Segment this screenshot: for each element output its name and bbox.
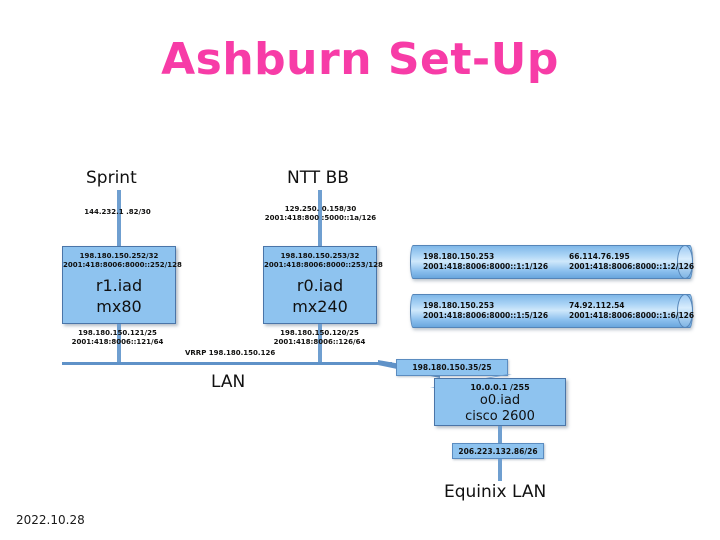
switch-downlink-badge[interactable]: 206.223.132.86/26 bbox=[452, 443, 544, 459]
router-r1-name: r1.iad bbox=[63, 276, 175, 295]
router-r0-loopback-v4: 198.180.150.253/32 bbox=[264, 252, 376, 261]
link-ip-ntt-v4: 129.250. 0.158/30 bbox=[248, 205, 393, 214]
peer1-far-v6: 2001:418:8006:8000::1:2/126 bbox=[569, 262, 694, 272]
lan-label: LAN bbox=[211, 372, 245, 392]
peer1-near-v6: 2001:418:8006:8000::1:1/126 bbox=[423, 262, 548, 272]
link-ip-sprint: 144.232.1 .82/30 bbox=[45, 208, 190, 217]
peer1-far-v4: 66.114.76.195 bbox=[569, 252, 694, 262]
router-r1-model: mx80 bbox=[63, 297, 175, 316]
link-sprint-to-r1 bbox=[117, 190, 121, 248]
switch-node-o0[interactable]: 10.0.0.1 /255 o0.iad cisco 2600 bbox=[434, 378, 566, 426]
upstream-label-ntt: NTT BB bbox=[287, 168, 349, 188]
peer2-near-v6: 2001:418:8006:8000::1:5/126 bbox=[423, 311, 548, 321]
slide-canvas: Ashburn Set-Up Sprint NTT BB 144.232.1 .… bbox=[0, 0, 720, 540]
router-r0-lan-v4: 198.180.150.120/25 bbox=[247, 329, 392, 338]
link-ip-ntt-v6: 2001:418:800 :5000::1a/126 bbox=[248, 214, 393, 223]
link-downlink-badge-to-equinix bbox=[498, 459, 502, 481]
peer-link-cylinder-1[interactable]: 198.180.150.253 2001:418:8006:8000::1:1/… bbox=[410, 245, 693, 279]
router-node-r0[interactable]: 198.180.150.253/32 2001:418:8006:8000::2… bbox=[263, 246, 377, 324]
switch-mgmt-ip: 10.0.0.1 /255 bbox=[435, 383, 565, 392]
router-node-r1[interactable]: 198.180.150.252/32 2001:418:8006:8000::2… bbox=[62, 246, 176, 324]
upstream-label-sprint: Sprint bbox=[86, 168, 137, 188]
router-r1-lan-v6: 2001:418:8006::121/64 bbox=[45, 338, 190, 347]
router-r1-loopback-v4: 198.180.150.252/32 bbox=[63, 252, 175, 261]
peer1-near-v4: 198.180.150.253 bbox=[423, 252, 548, 262]
downstream-label-equinix: Equinix LAN bbox=[444, 482, 546, 502]
peer-link-cylinder-2[interactable]: 198.180.150.253 2001:418:8006:8000::1:5/… bbox=[410, 294, 693, 328]
router-r0-model: mx240 bbox=[264, 297, 376, 316]
peer2-near-v4: 198.180.150.253 bbox=[423, 301, 548, 311]
router-r1-lan-v4: 198.180.150.121/25 bbox=[45, 329, 190, 338]
router-r1-loopback-v6: 2001:418:8006:8000::252/128 bbox=[63, 261, 175, 270]
router-r0-lan-v6: 2001:418:8006::126/64 bbox=[247, 338, 392, 347]
lan-bus-line bbox=[62, 362, 392, 365]
link-switch-to-downlink-badge bbox=[498, 426, 502, 444]
router-r0-loopback-v6: 2001:418:8006:8000::253/128 bbox=[264, 261, 376, 270]
router-r0-name: r0.iad bbox=[264, 276, 376, 295]
peer2-far-v6: 2001:418:8006:8000::1:6/126 bbox=[569, 311, 694, 321]
page-title: Ashburn Set-Up bbox=[0, 34, 720, 85]
switch-model: cisco 2600 bbox=[435, 409, 565, 424]
switch-name: o0.iad bbox=[435, 393, 565, 408]
date-stamp: 2022.10.28 bbox=[16, 513, 85, 527]
vrrp-label: VRRP 198.180.150.126 bbox=[185, 349, 275, 358]
peer2-far-v4: 74.92.112.54 bbox=[569, 301, 694, 311]
